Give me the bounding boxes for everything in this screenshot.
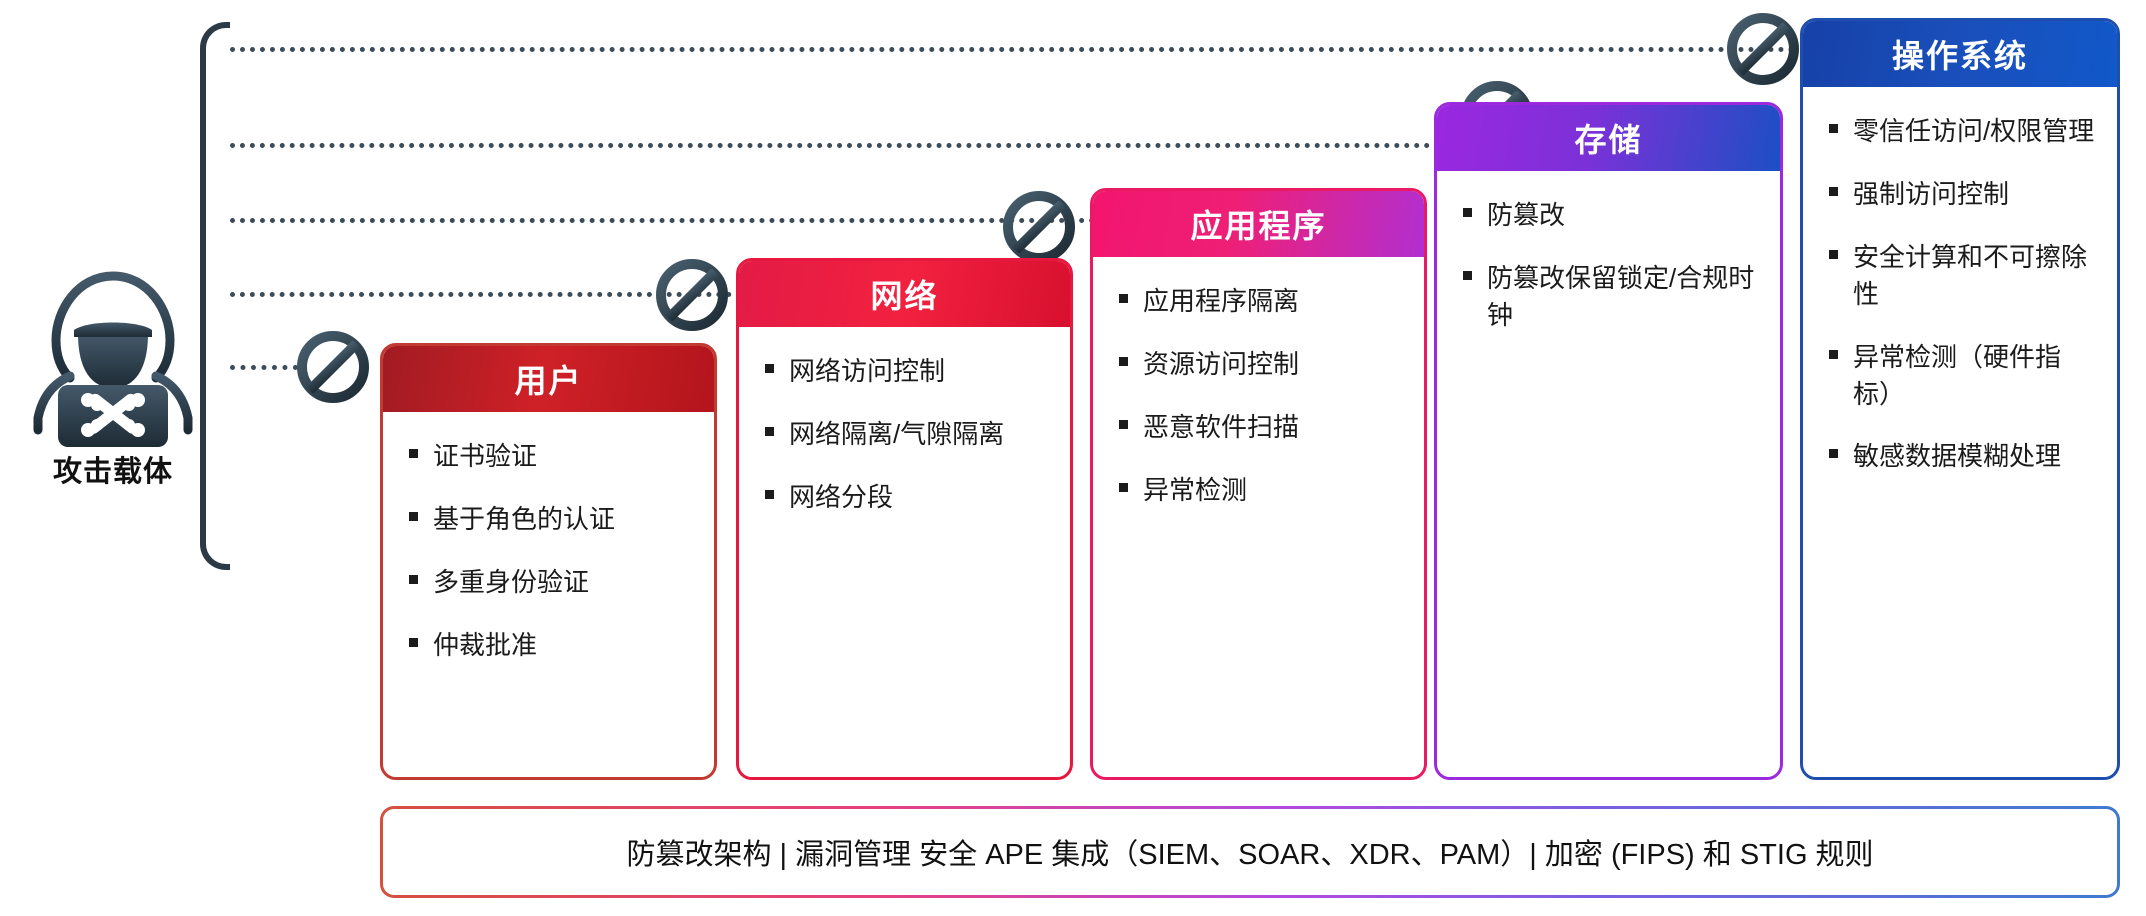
list-item: 证书验证: [405, 438, 694, 475]
connector-line-user: [230, 365, 298, 370]
prohibition-no-entry-icon: [1726, 12, 1800, 86]
list-item: 网络隔离/气隙隔离: [761, 416, 1050, 453]
layer-card-user[interactable]: 用户 证书验证 基于角色的认证 多重身份验证 仲裁批准: [380, 343, 717, 780]
layer-list-storage: 防篡改 防篡改保留锁定/合规时钟: [1459, 197, 1760, 334]
prohibition-no-entry-icon: [655, 258, 729, 332]
block-icon-network: [655, 258, 729, 332]
list-item: 异常检测（硬件指标）: [1825, 339, 2097, 413]
list-item: 多重身份验证: [405, 564, 694, 601]
layer-body-user: 证书验证 基于角色的认证 多重身份验证 仲裁批准: [383, 412, 714, 777]
list-item: 防篡改: [1459, 197, 1760, 234]
layer-card-application[interactable]: 应用程序 应用程序隔离 资源访问控制 恶意软件扫描 异常检测: [1090, 188, 1427, 780]
layer-card-os[interactable]: 操作系统 零信任访问/权限管理 强制访问控制 安全计算和不可擦除性 异常检测（硬…: [1800, 18, 2120, 780]
connector-line-os: [230, 47, 1795, 52]
list-item: 防篡改保留锁定/合规时钟: [1459, 260, 1760, 334]
connector-line-storage: [230, 143, 1530, 148]
layer-title-user: 用户: [383, 346, 714, 412]
list-item: 敏感数据模糊处理: [1825, 438, 2097, 475]
layer-body-network: 网络访问控制 网络隔离/气隙隔离 网络分段: [739, 327, 1070, 777]
layer-list-os: 零信任访问/权限管理 强制访问控制 安全计算和不可擦除性 异常检测（硬件指标） …: [1825, 113, 2097, 475]
attack-vector-label: 攻击载体: [18, 448, 208, 490]
layer-title-storage: 存储: [1437, 105, 1780, 171]
attack-vector-group: 攻击载体: [18, 258, 208, 488]
list-item: 安全计算和不可擦除性: [1825, 239, 2097, 313]
hacker-hoodie-laptop-icon: [18, 258, 208, 448]
layer-card-storage[interactable]: 存储 防篡改 防篡改保留锁定/合规时钟: [1434, 102, 1783, 780]
layer-title-network: 网络: [739, 261, 1070, 327]
foundation-bar: 防篡改架构 | 漏洞管理 安全 APE 集成（SIEM、SOAR、XDR、PAM…: [380, 806, 2120, 898]
list-item: 仲裁批准: [405, 627, 694, 664]
layer-list-user: 证书验证 基于角色的认证 多重身份验证 仲裁批准: [405, 438, 694, 664]
attack-bracket: [200, 22, 230, 570]
list-item: 强制访问控制: [1825, 176, 2097, 213]
prohibition-no-entry-icon: [296, 330, 370, 404]
list-item: 应用程序隔离: [1115, 283, 1404, 320]
list-item: 零信任访问/权限管理: [1825, 113, 2097, 150]
layer-list-network: 网络访问控制 网络隔离/气隙隔离 网络分段: [761, 353, 1050, 516]
block-icon-os: [1726, 12, 1800, 86]
list-item: 恶意软件扫描: [1115, 409, 1404, 446]
layer-body-application: 应用程序隔离 资源访问控制 恶意软件扫描 异常检测: [1093, 257, 1424, 777]
foundation-bar-text: 防篡改架构 | 漏洞管理 安全 APE 集成（SIEM、SOAR、XDR、PAM…: [626, 831, 1873, 873]
layer-title-os: 操作系统: [1803, 21, 2117, 87]
layer-body-os: 零信任访问/权限管理 强制访问控制 安全计算和不可擦除性 异常检测（硬件指标） …: [1803, 87, 2117, 777]
list-item: 异常检测: [1115, 472, 1404, 509]
diagram-canvas: 攻击载体: [0, 0, 2146, 916]
layer-title-application: 应用程序: [1093, 191, 1424, 257]
prohibition-no-entry-icon: [1002, 190, 1076, 264]
layer-body-storage: 防篡改 防篡改保留锁定/合规时钟: [1437, 171, 1780, 777]
block-icon-user: [296, 330, 370, 404]
list-item: 基于角色的认证: [405, 501, 694, 538]
layer-list-application: 应用程序隔离 资源访问控制 恶意软件扫描 异常检测: [1115, 283, 1404, 509]
block-icon-application: [1002, 190, 1076, 264]
list-item: 资源访问控制: [1115, 346, 1404, 383]
layer-card-network[interactable]: 网络 网络访问控制 网络隔离/气隙隔离 网络分段: [736, 258, 1073, 780]
list-item: 网络访问控制: [761, 353, 1050, 390]
list-item: 网络分段: [761, 479, 1050, 516]
